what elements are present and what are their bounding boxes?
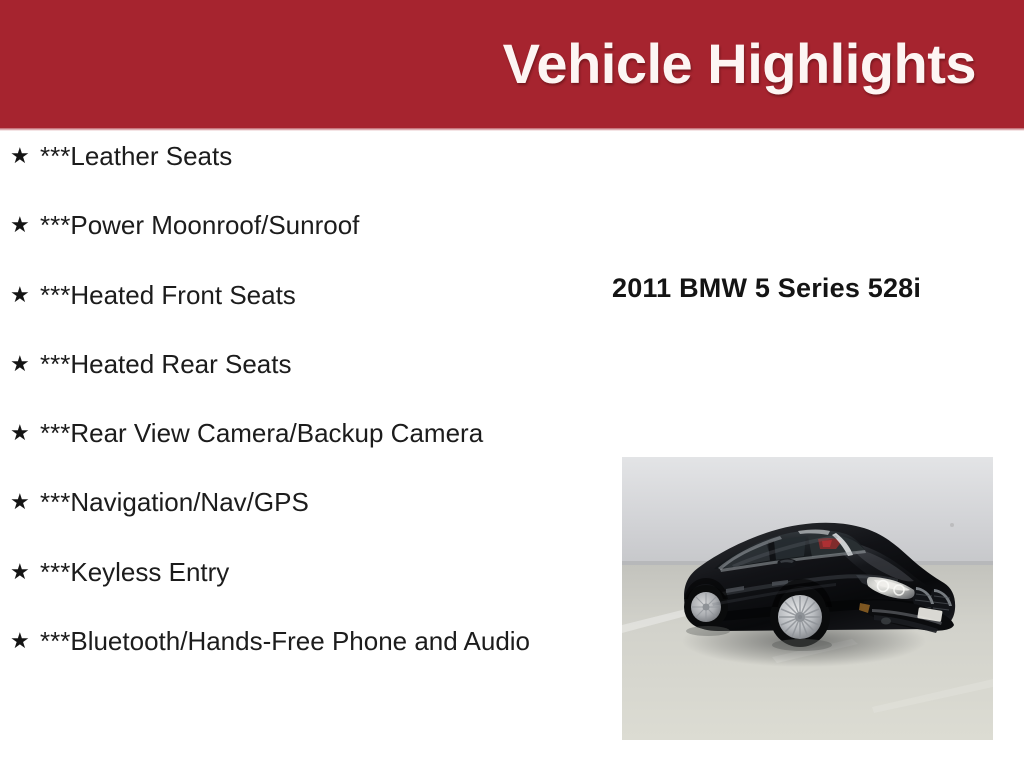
star-icon: ★ <box>10 625 40 657</box>
list-item: ★ ***Rear View Camera/Backup Camera <box>10 417 590 450</box>
list-item-label: ***Heated Rear Seats <box>40 348 590 381</box>
star-icon: ★ <box>10 417 40 449</box>
star-icon: ★ <box>10 140 40 172</box>
list-item-label: ***Leather Seats <box>40 140 590 173</box>
list-item-label: ***Power Moonroof/Sunroof <box>40 209 590 242</box>
star-icon: ★ <box>10 279 40 311</box>
list-item: ★ ***Power Moonroof/Sunroof <box>10 209 590 242</box>
star-icon: ★ <box>10 556 40 588</box>
star-icon: ★ <box>10 348 40 380</box>
page-title: Vehicle Highlights <box>503 36 976 92</box>
list-item: ★ ***Heated Rear Seats <box>10 348 590 381</box>
header-banner: Vehicle Highlights <box>0 0 1024 128</box>
list-item: ★ ***Keyless Entry <box>10 556 590 589</box>
list-item-label: ***Bluetooth/Hands-Free Phone and Audio <box>40 625 590 658</box>
star-icon: ★ <box>10 486 40 518</box>
list-item: ★ ***Bluetooth/Hands-Free Phone and Audi… <box>10 625 590 658</box>
list-item-label: ***Navigation/Nav/GPS <box>40 486 590 519</box>
list-item-label: ***Keyless Entry <box>40 556 590 589</box>
list-item: ★ ***Navigation/Nav/GPS <box>10 486 590 519</box>
content-area: ★ ***Leather Seats ★ ***Power Moonroof/S… <box>0 128 1024 768</box>
list-item-label: ***Rear View Camera/Backup Camera <box>40 417 590 450</box>
vehicle-highlights-list: ★ ***Leather Seats ★ ***Power Moonroof/S… <box>10 140 590 658</box>
star-icon: ★ <box>10 209 40 241</box>
vehicle-photo <box>622 457 993 740</box>
list-item: ★ ***Heated Front Seats <box>10 279 590 312</box>
vehicle-title: 2011 BMW 5 Series 528i <box>612 273 921 304</box>
vehicle-photo-image <box>622 457 993 740</box>
list-item: ★ ***Leather Seats <box>10 140 590 173</box>
list-item-label: ***Heated Front Seats <box>40 279 590 312</box>
